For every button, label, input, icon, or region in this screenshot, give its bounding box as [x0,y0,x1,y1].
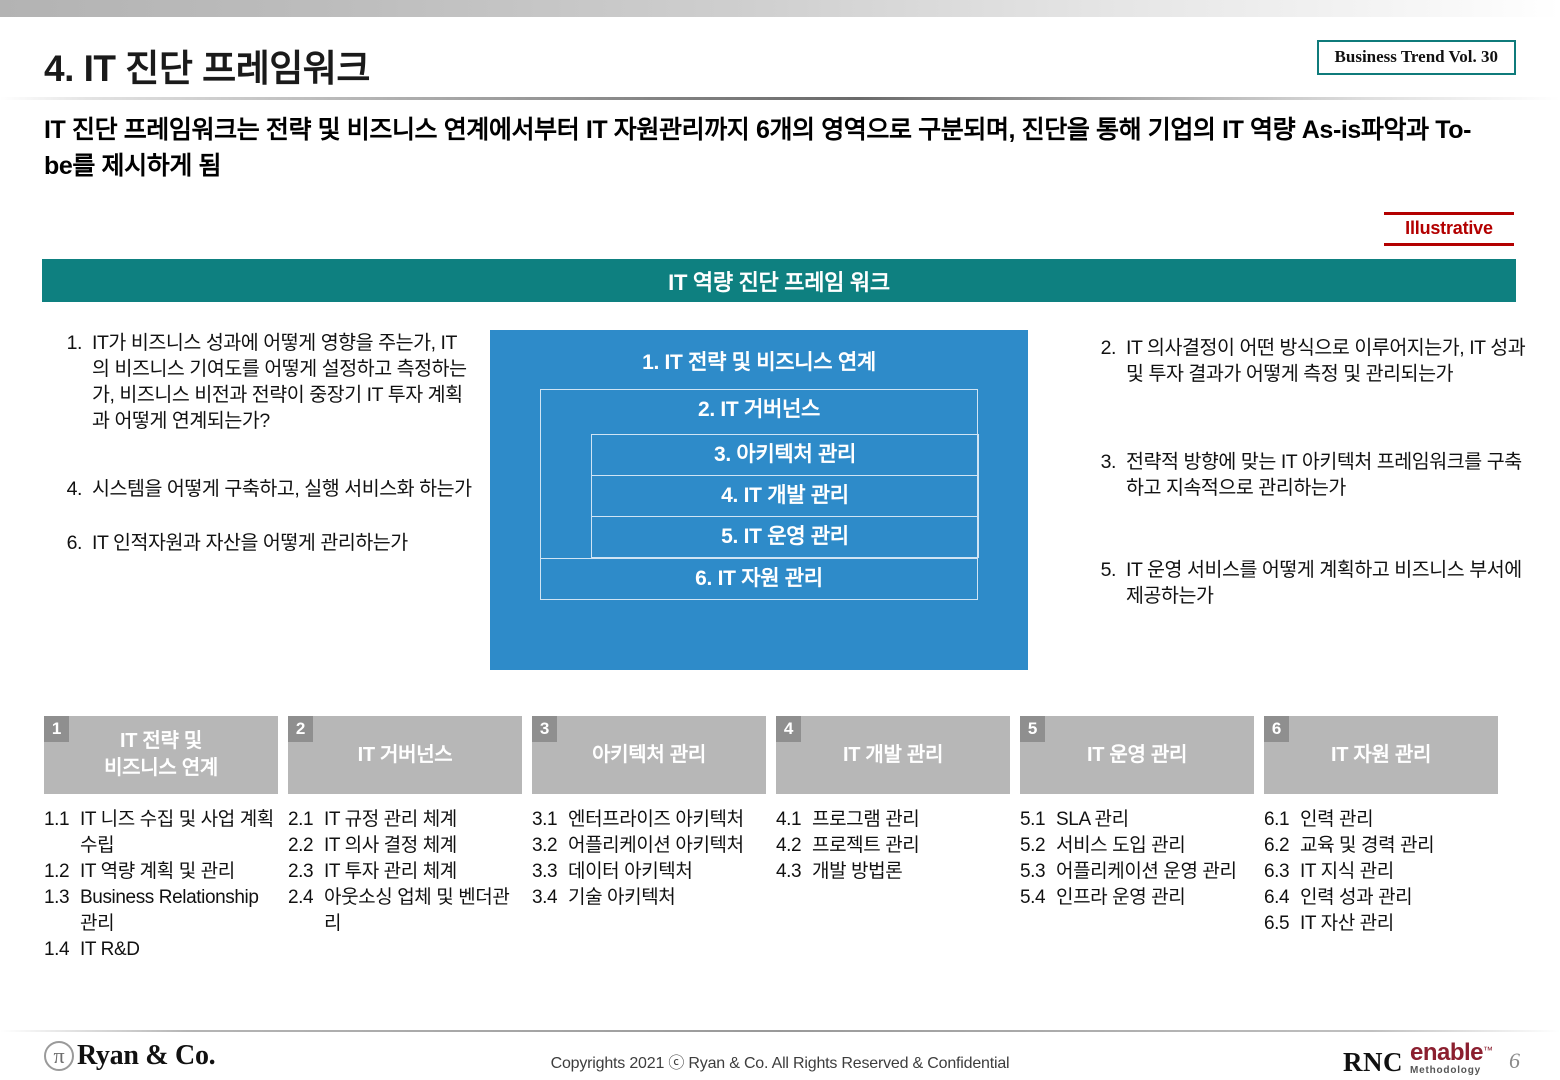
list-item: 2.1IT 규정 관리 체계 [288,807,522,833]
question-text: IT 의사결정이 어떤 방식으로 이루어지는가, IT 성과 및 투자 결과가 … [1126,336,1526,388]
footer-divider [0,1030,1560,1032]
item-text: Business Relationship 관리 [80,885,278,937]
item-number: 1.2 [44,859,80,885]
domain-title: IT 거버넌스 [358,742,453,769]
question-text: IT 인적자원과 자산을 어떻게 관리하는가 [92,531,472,557]
item-number: 3.4 [532,885,568,911]
question-number: 3. [1086,450,1126,502]
top-decorative-bar [0,0,1560,17]
pyramid-level-3: 3. 아키텍처 관리 [592,435,978,476]
domain-columns: 1 IT 전략 및비즈니스 연계 1.1IT 니즈 수집 및 사업 계획 수립 … [44,716,1516,963]
item-number: 3.3 [532,859,568,885]
list-item: 1.1IT 니즈 수집 및 사업 계획 수립 [44,807,278,859]
domain-header: 1 IT 전략 및비즈니스 연계 [44,716,278,794]
item-text: IT 자산 관리 [1300,911,1498,937]
question-number: 1. [52,331,92,435]
question-text: 시스템을 어떻게 구축하고, 실행 서비스화 하는가 [92,477,472,503]
list-item: 1.2IT 역량 계획 및 관리 [44,859,278,885]
question-text: IT가 비즈니스 성과에 어떻게 영향을 주는가, IT의 비즈니스 기여도를 … [92,331,472,435]
list-item: 6.5IT 자산 관리 [1264,911,1498,937]
domain-title: IT 자원 관리 [1331,742,1431,769]
item-number: 5.3 [1020,859,1056,885]
domain-header: 5 IT 운영 관리 [1020,716,1254,794]
pyramid-box-level-2: 2. IT 거버넌스 3. 아키텍처 관리 4. IT 개발 관리 5. IT … [540,389,978,558]
item-text: 인력 관리 [1300,807,1498,833]
list-item: 5.3어플리케이션 운영 관리 [1020,859,1254,885]
illustrative-rule-bottom [1384,243,1514,246]
questions-left: 1. IT가 비즈니스 성과에 어떻게 영향을 주는가, IT의 비즈니스 기여… [52,331,472,557]
list-item: 6.2교육 및 경력 관리 [1264,833,1498,859]
item-number: 4.1 [776,807,812,833]
enable-wordmark: enable™ Methodology [1410,1041,1493,1076]
list-item: 6.4인력 성과 관리 [1264,885,1498,911]
item-text: IT 투자 관리 체계 [324,859,522,885]
trademark-icon: ™ [1483,1046,1493,1057]
domain-title: IT 운영 관리 [1087,742,1187,769]
item-number: 2.2 [288,833,324,859]
business-trend-badge: Business Trend Vol. 30 [1317,40,1516,75]
domain-header: 6 IT 자원 관리 [1264,716,1498,794]
domain-column-5: 5 IT 운영 관리 5.1SLA 관리 5.2서비스 도입 관리 5.3어플리… [1020,716,1254,963]
item-text: 어플리케이션 아키텍처 [568,833,766,859]
rnc-wordmark: RNC [1343,1049,1403,1076]
item-text: 프로그램 관리 [812,807,1010,833]
pyramid-level-2: 2. IT 거버넌스 [541,390,977,430]
question-item: 3. 전략적 방향에 맞는 IT 아키텍처 프레임워크를 구축하고 지속적으로 … [1086,450,1526,502]
item-text: 기술 아키텍처 [568,885,766,911]
list-item: 2.4아웃소싱 업체 및 벤더관리 [288,885,522,937]
domain-badge: 1 [44,716,69,742]
item-text: 데이터 아키텍처 [568,859,766,885]
domain-items: 5.1SLA 관리 5.2서비스 도입 관리 5.3어플리케이션 운영 관리 5… [1020,794,1254,911]
item-number: 1.3 [44,885,80,937]
domain-header: 2 IT 거버넌스 [288,716,522,794]
question-item: 2. IT 의사결정이 어떤 방식으로 이루어지는가, IT 성과 및 투자 결… [1086,336,1526,388]
item-number: 4.2 [776,833,812,859]
illustrative-label: Illustrative [1384,217,1514,241]
list-item: 4.2프로젝트 관리 [776,833,1010,859]
list-item: 1.3Business Relationship 관리 [44,885,278,937]
list-item: 5.1SLA 관리 [1020,807,1254,833]
slide-subtitle: IT 진단 프레임워크는 전략 및 비즈니스 연계에서부터 IT 자원관리까지 … [44,113,1484,184]
question-item: 4. 시스템을 어떻게 구축하고, 실행 서비스화 하는가 [52,477,472,503]
pyramid-level-4: 4. IT 개발 관리 [592,476,978,517]
enable-text: enable [1410,1039,1483,1066]
item-number: 6.4 [1264,885,1300,911]
item-number: 6.3 [1264,859,1300,885]
methodology-text: Methodology [1410,1066,1493,1076]
item-number: 5.4 [1020,885,1056,911]
item-number: 6.2 [1264,833,1300,859]
item-number: 3.1 [532,807,568,833]
item-text: 서비스 도입 관리 [1056,833,1254,859]
illustrative-rule-top [1384,212,1514,215]
framework-banner: IT 역량 진단 프레임 워크 [42,259,1516,302]
list-item: 3.4기술 아키텍처 [532,885,766,911]
domain-badge: 4 [776,716,801,742]
domain-header: 3 아키텍처 관리 [532,716,766,794]
item-number: 3.2 [532,833,568,859]
domain-column-2: 2 IT 거버넌스 2.1IT 규정 관리 체계 2.2IT 의사 결정 체계 … [288,716,522,963]
item-text: IT 니즈 수집 및 사업 계획 수립 [80,807,278,859]
page-number: 6 [1509,1048,1520,1076]
item-text: 교육 및 경력 관리 [1300,833,1498,859]
domain-column-1: 1 IT 전략 및비즈니스 연계 1.1IT 니즈 수집 및 사업 계획 수립 … [44,716,278,963]
item-number: 2.1 [288,807,324,833]
domain-column-6: 6 IT 자원 관리 6.1인력 관리 6.2교육 및 경력 관리 6.3IT … [1264,716,1498,963]
item-text: IT 역량 계획 및 관리 [80,859,278,885]
list-item: 1.4IT R&D [44,937,278,963]
domain-title: 아키텍처 관리 [592,742,706,769]
item-text: 인력 성과 관리 [1300,885,1498,911]
pyramid-box-level-6: 6. IT 자원 관리 [540,558,978,600]
domain-title: IT 전략 및비즈니스 연계 [104,728,218,781]
domain-title: IT 개발 관리 [843,742,943,769]
item-text: 개발 방법론 [812,859,1010,885]
list-item: 6.3IT 지식 관리 [1264,859,1498,885]
list-item: 4.3개발 방법론 [776,859,1010,885]
question-number: 5. [1086,558,1126,610]
item-text: SLA 관리 [1056,807,1254,833]
item-number: 1.1 [44,807,80,859]
domain-items: 1.1IT 니즈 수집 및 사업 계획 수립 1.2IT 역량 계획 및 관리 … [44,794,278,963]
question-text: IT 운영 서비스를 어떻게 계획하고 비즈니스 부서에 제공하는가 [1126,558,1526,610]
list-item: 2.3IT 투자 관리 체계 [288,859,522,885]
pyramid-level-6: 6. IT 자원 관리 [541,559,977,599]
question-number: 4. [52,477,92,503]
list-item: 5.2서비스 도입 관리 [1020,833,1254,859]
item-number: 6.5 [1264,911,1300,937]
pyramid-box-level-3: 3. 아키텍처 관리 4. IT 개발 관리 5. IT 운영 관리 [591,434,979,558]
domain-header: 4 IT 개발 관리 [776,716,1010,794]
list-item: 6.1인력 관리 [1264,807,1498,833]
question-item: 5. IT 운영 서비스를 어떻게 계획하고 비즈니스 부서에 제공하는가 [1086,558,1526,610]
framework-pyramid: 1. IT 전략 및 비즈니스 연계 2. IT 거버넌스 3. 아키텍처 관리… [490,330,1028,670]
questions-right: 2. IT 의사결정이 어떤 방식으로 이루어지는가, IT 성과 및 투자 결… [1086,336,1526,610]
item-number: 1.4 [44,937,80,963]
title-divider [0,97,1560,100]
illustrative-marker: Illustrative [1384,212,1514,246]
list-item: 3.1엔터프라이즈 아키텍처 [532,807,766,833]
item-text: IT 의사 결정 체계 [324,833,522,859]
list-item: 5.4인프라 운영 관리 [1020,885,1254,911]
question-number: 6. [52,531,92,557]
item-text: IT R&D [80,937,278,963]
item-number: 4.3 [776,859,812,885]
item-text: 프로젝트 관리 [812,833,1010,859]
question-number: 2. [1086,336,1126,388]
question-item: 6. IT 인적자원과 자산을 어떻게 관리하는가 [52,531,472,557]
item-text: 어플리케이션 운영 관리 [1056,859,1254,885]
domain-items: 3.1엔터프라이즈 아키텍처 3.2어플리케이션 아키텍처 3.3데이터 아키텍… [532,794,766,911]
item-number: 5.1 [1020,807,1056,833]
question-item: 1. IT가 비즈니스 성과에 어떻게 영향을 주는가, IT의 비즈니스 기여… [52,331,472,435]
list-item: 4.1프로그램 관리 [776,807,1010,833]
list-item: 3.2어플리케이션 아키텍처 [532,833,766,859]
item-text: IT 지식 관리 [1300,859,1498,885]
domain-items: 4.1프로그램 관리 4.2프로젝트 관리 4.3개발 방법론 [776,794,1010,885]
domain-items: 6.1인력 관리 6.2교육 및 경력 관리 6.3IT 지식 관리 6.4인력… [1264,794,1498,937]
item-text: IT 규정 관리 체계 [324,807,522,833]
domain-badge: 2 [288,716,313,742]
item-number: 2.3 [288,859,324,885]
domain-column-3: 3 아키텍처 관리 3.1엔터프라이즈 아키텍처 3.2어플리케이션 아키텍처 … [532,716,766,963]
copyright-text: Copyrights 2021 ⓒ Ryan & Co. All Rights … [0,1049,1560,1073]
question-text: 전략적 방향에 맞는 IT 아키텍처 프레임워크를 구축하고 지속적으로 관리하… [1126,450,1526,502]
page-title: 4. IT 진단 프레임워크 [44,38,370,92]
item-number: 5.2 [1020,833,1056,859]
item-number: 2.4 [288,885,324,937]
domain-items: 2.1IT 규정 관리 체계 2.2IT 의사 결정 체계 2.3IT 투자 관… [288,794,522,937]
item-text: 아웃소싱 업체 및 벤더관리 [324,885,522,937]
list-item: 3.3데이터 아키텍처 [532,859,766,885]
domain-badge: 6 [1264,716,1289,742]
item-text: 인프라 운영 관리 [1056,885,1254,911]
pyramid-level-5: 5. IT 운영 관리 [592,517,978,558]
list-item: 2.2IT 의사 결정 체계 [288,833,522,859]
item-number: 6.1 [1264,807,1300,833]
pyramid-level-1: 1. IT 전략 및 비즈니스 연계 [490,343,1028,383]
domain-badge: 5 [1020,716,1045,742]
domain-badge: 3 [532,716,557,742]
item-text: 엔터프라이즈 아키텍처 [568,807,766,833]
domain-column-4: 4 IT 개발 관리 4.1프로그램 관리 4.2프로젝트 관리 4.3개발 방… [776,716,1010,963]
brand-logo: RNC enable™ Methodology 6 [1343,1041,1520,1076]
